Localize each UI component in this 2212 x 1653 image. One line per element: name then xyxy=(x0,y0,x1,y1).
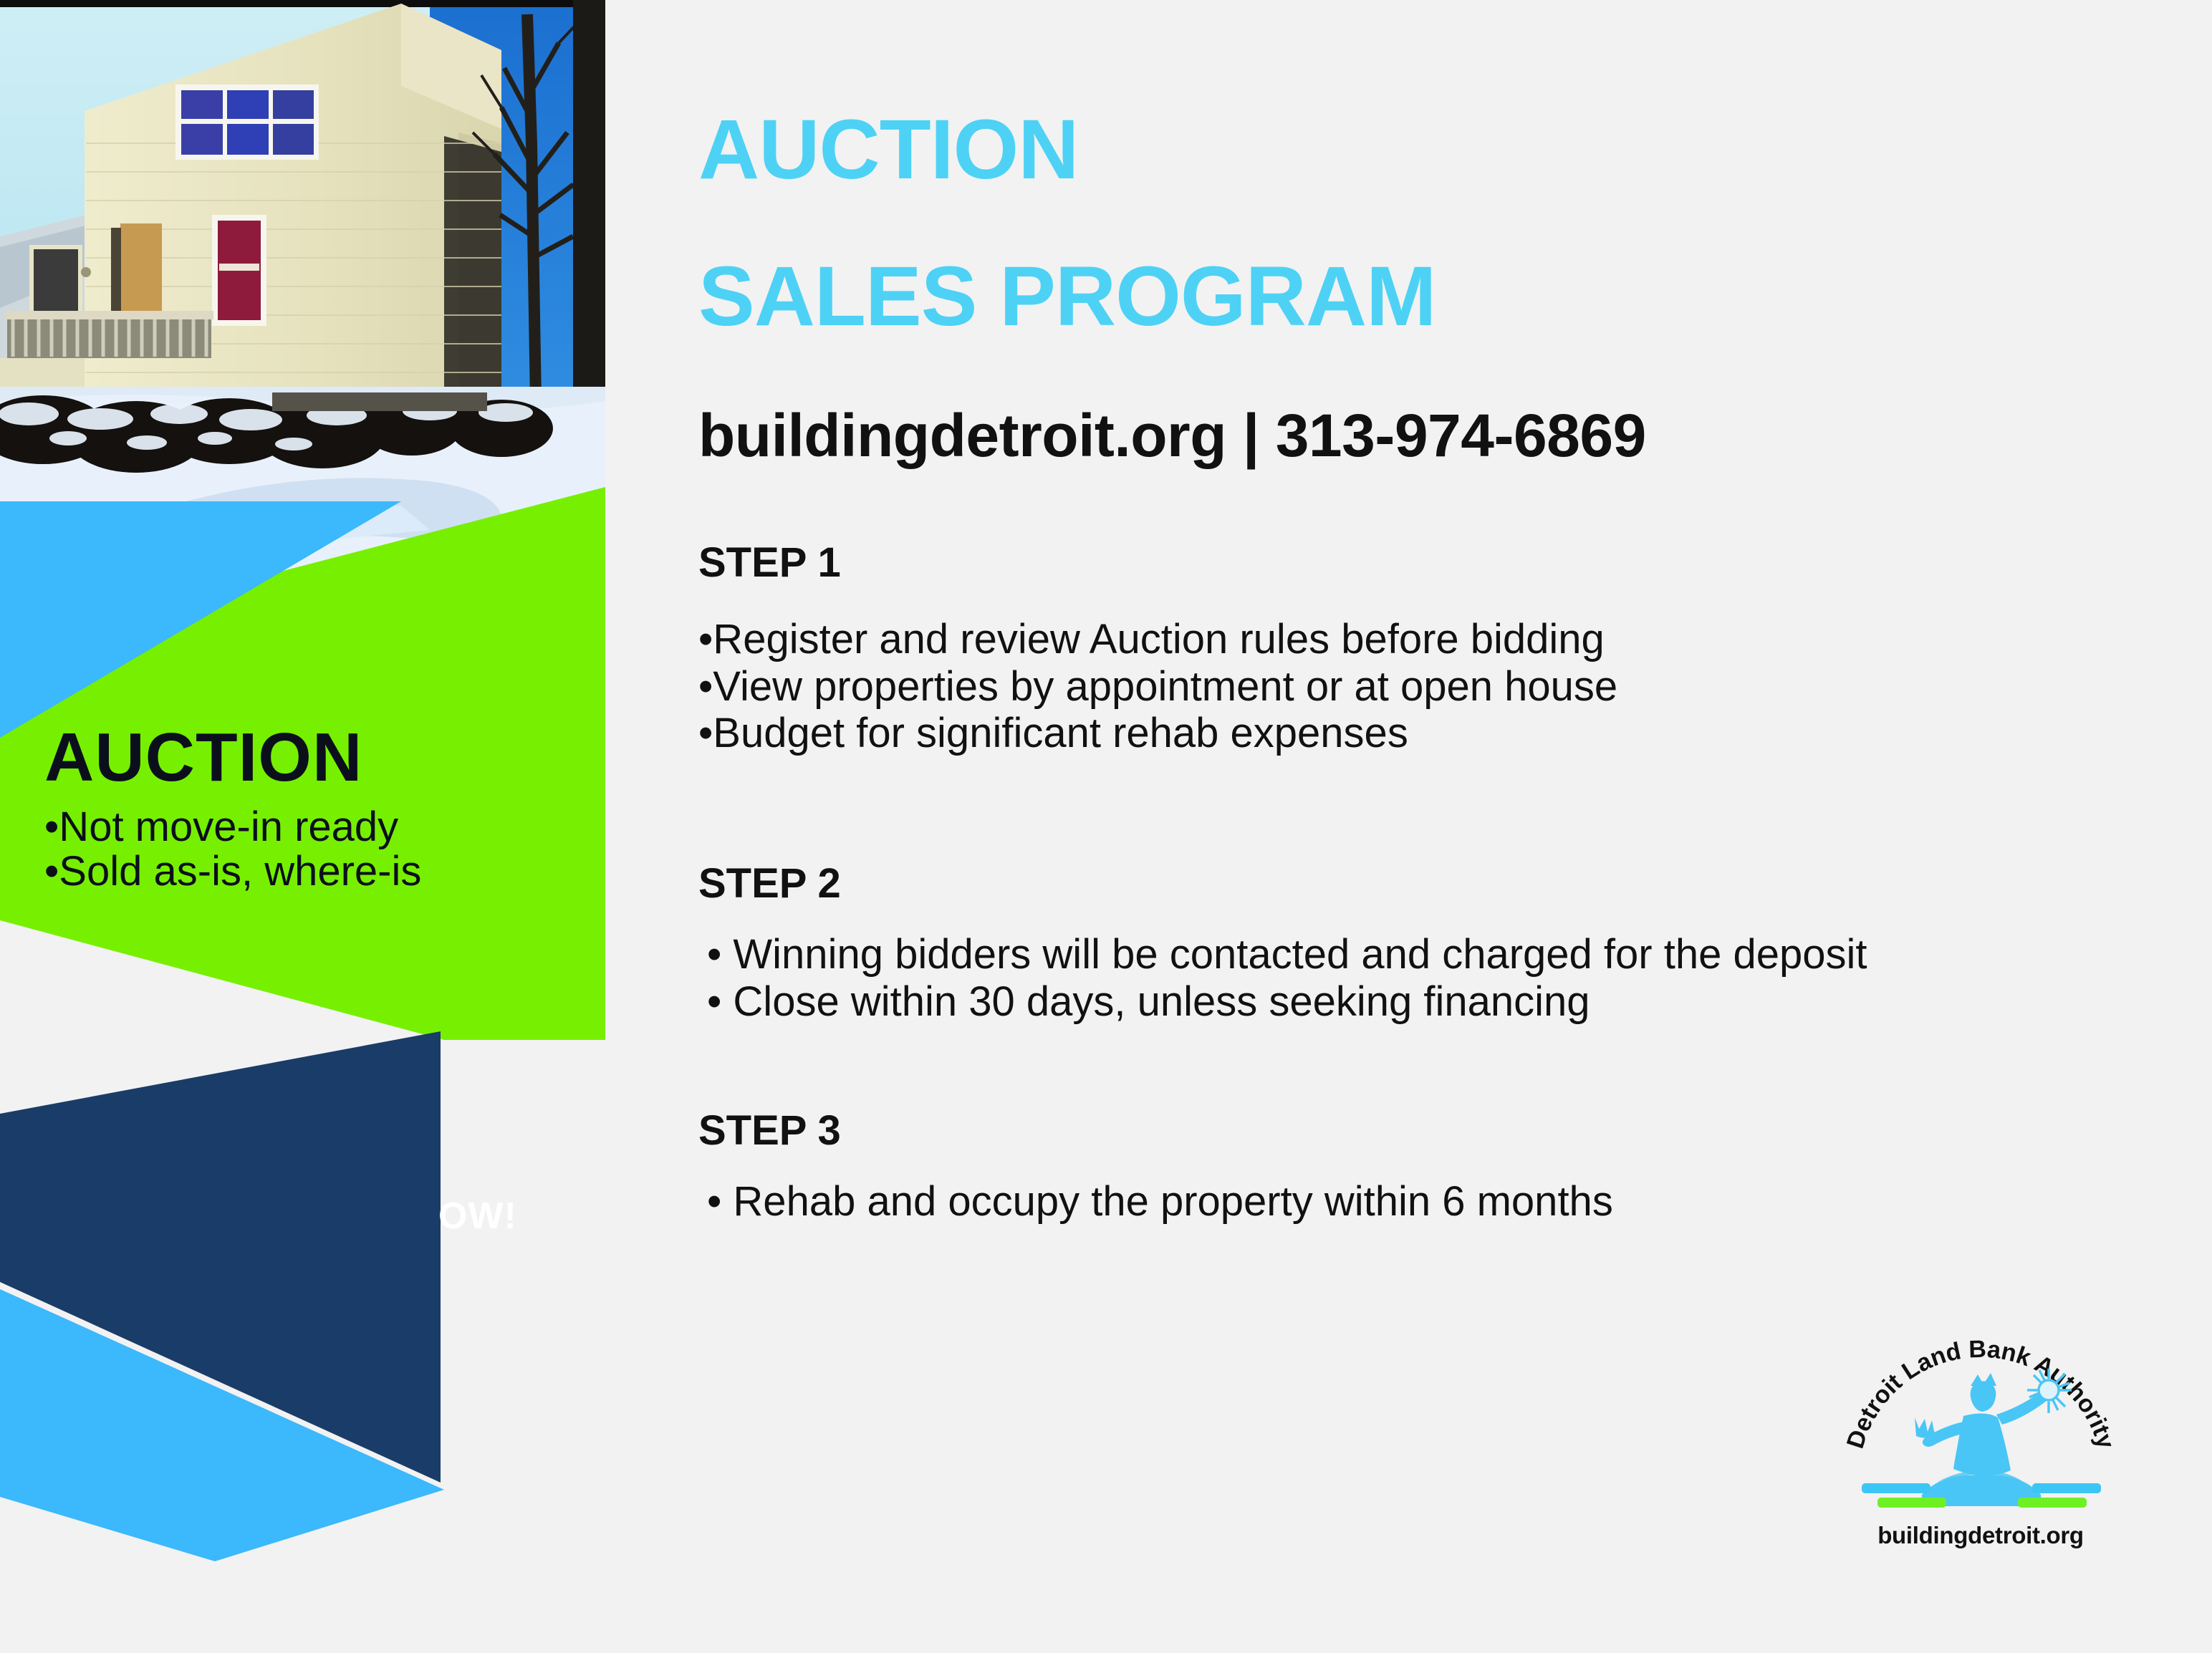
step-1-heading: STEP 1 xyxy=(698,539,841,587)
page-title-line1: AUCTION xyxy=(698,107,1079,192)
spirit-of-detroit-logo-mark: Detroit Land Bank Authority xyxy=(1830,1329,2131,1521)
auction-bullet: •Not move-in ready xyxy=(44,805,560,849)
contact-line: buildingdetroit.org | 313-974-6869 xyxy=(698,401,1646,471)
spirit-figure-icon xyxy=(1915,1373,2047,1506)
step-3-bullets: • Rehab and occupy the property within 6… xyxy=(707,1178,1613,1225)
main-content: AUCTION SALES PROGRAM buildingdetroit.or… xyxy=(698,0,2131,1653)
step-2-heading: STEP 2 xyxy=(698,859,841,907)
step-3-heading: STEP 3 xyxy=(698,1107,841,1155)
step-bullet: • Rehab and occupy the property within 6… xyxy=(707,1178,1613,1225)
auction-bullet: •Sold as-is, where-is xyxy=(44,849,560,894)
auction-callout: AUCTION •Not move-in ready •Sold as-is, … xyxy=(44,723,560,894)
step-bullet: •View properties by appointment or at op… xyxy=(698,663,1617,710)
logo-url-label: buildingdetroit.org xyxy=(1830,1522,2131,1549)
step-bullet: • Winning bidders will be contacted and … xyxy=(707,931,1867,978)
auction-callout-title: AUCTION xyxy=(44,723,560,792)
step-bullet: • Close within 30 days, unless seeking f… xyxy=(707,978,1867,1026)
dlba-logo: Detroit Land Bank Authority xyxy=(1830,1329,2131,1558)
step-1-bullets: •Register and review Auction rules befor… xyxy=(698,616,1617,757)
step-2-bullets: • Winning bidders will be contacted and … xyxy=(707,931,1867,1025)
left-graphic-panel: AUCTION •Not move-in ready •Sold as-is, … xyxy=(0,0,616,1653)
clipped-now-text: OW! xyxy=(438,1197,517,1235)
step-bullet: •Register and review Auction rules befor… xyxy=(698,616,1617,663)
auction-callout-bullets: •Not move-in ready •Sold as-is, where-is xyxy=(44,805,560,894)
page-title-line2: SALES PROGRAM xyxy=(698,254,1436,339)
step-bullet: •Budget for significant rehab expenses xyxy=(698,710,1617,757)
